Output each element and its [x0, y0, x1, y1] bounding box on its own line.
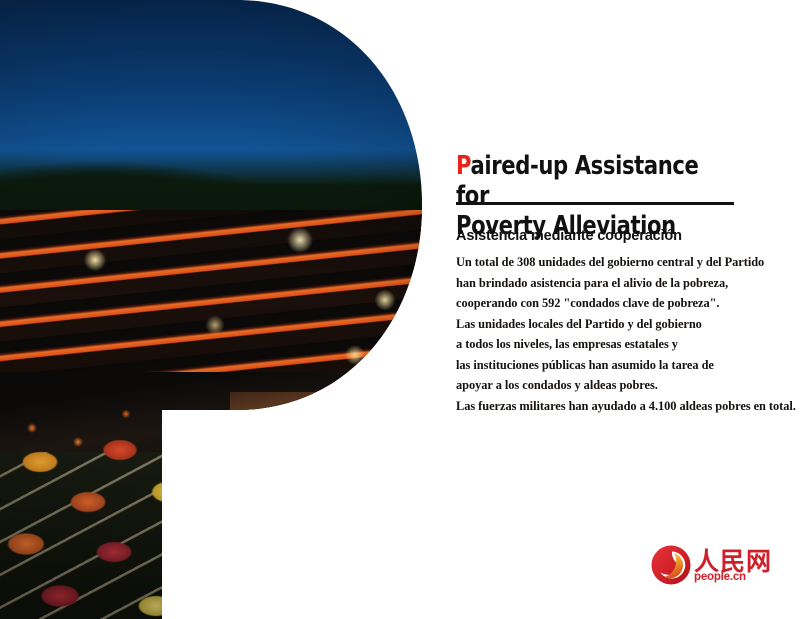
body-line: apoyar a los condados y aldeas pobres. [456, 375, 800, 396]
body-copy: Un total de 308 unidades del gobierno ce… [456, 252, 800, 416]
body-line: Un total de 308 unidades del gobierno ce… [456, 252, 800, 273]
body-line: Las fuerzas militares han ayudado a 4.10… [456, 396, 800, 417]
body-line: las instituciones públicas han asumido l… [456, 355, 800, 376]
village-night-photo [0, 0, 440, 619]
text-column: Paired-up Assistance forPoverty Alleviat… [456, 0, 800, 619]
photo-vignette [0, 0, 440, 619]
photo-p-letterform [0, 0, 440, 619]
body-line: han brindado asistencia para el alivio d… [456, 273, 800, 294]
body-line: a todos los niveles, las empresas estata… [456, 334, 800, 355]
body-line: cooperando con 592 "condados clave de po… [456, 293, 800, 314]
people-cn-swirl-mark [650, 544, 692, 586]
logo-latin-name: people.cn [694, 571, 746, 583]
poster-canvas: Paired-up Assistance forPoverty Alleviat… [0, 0, 800, 619]
body-line: Las unidades locales del Partido y del g… [456, 314, 800, 335]
photo-clip-mask [0, 0, 440, 619]
title-drop-cap: P [456, 151, 470, 181]
people-cn-logo[interactable]: 人民网 people.cn [650, 544, 792, 590]
subtitle: Asistencia mediante cooperación [456, 228, 776, 244]
title-divider [456, 202, 734, 205]
